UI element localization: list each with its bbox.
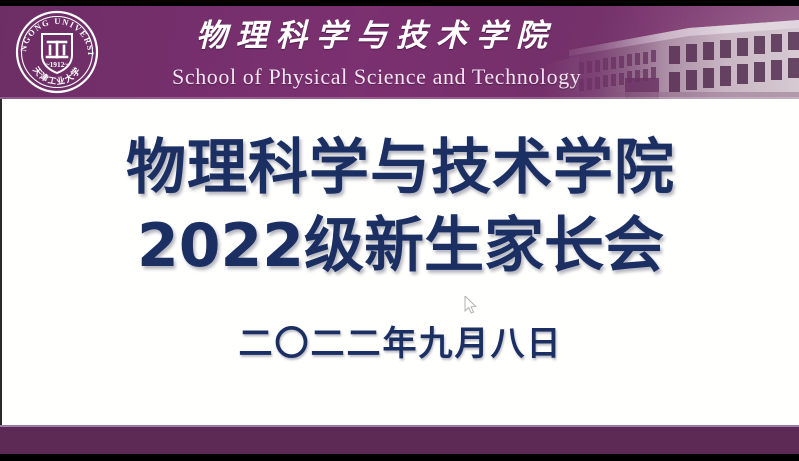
- bottom-letterbox-strip: [0, 454, 799, 461]
- presentation-slide: TIANGONG UNIVERSITY 天津工业大学 ~1912~ 物理科学: [0, 0, 799, 461]
- slide-date-text: 二〇二二年九月八日: [2, 323, 799, 365]
- header-school-name-en: School of Physical Science and Technolog…: [172, 64, 581, 90]
- university-seal-logo: TIANGONG UNIVERSITY 天津工业大学 ~1912~: [14, 9, 100, 95]
- slide-title-line-1: 物理科学与技术学院: [2, 129, 799, 207]
- slide-footer-band: [0, 425, 799, 454]
- svg-text:~1912~: ~1912~: [46, 60, 69, 69]
- slide-title-line-2: 2022级新生家长会: [2, 207, 799, 285]
- header-school-name-cn: 物理科学与技术学院: [196, 19, 556, 53]
- slide-header-band: TIANGONG UNIVERSITY 天津工业大学 ~1912~ 物理科学: [0, 6, 799, 99]
- slide-title-block: 物理科学与技术学院 2022级新生家长会: [2, 129, 799, 285]
- slide-content-area: 物理科学与技术学院 2022级新生家长会 二〇二二年九月八日: [0, 99, 799, 425]
